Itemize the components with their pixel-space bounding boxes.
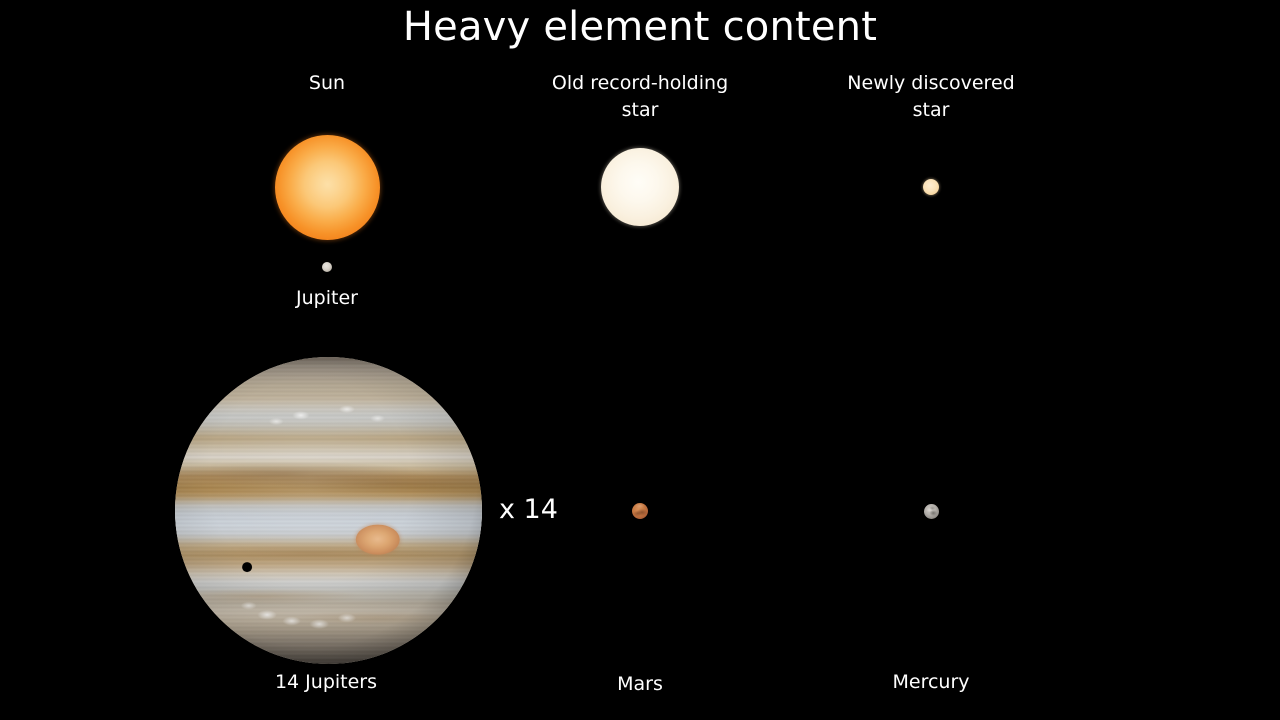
column-label-new-star-line1: Newly discovered bbox=[811, 70, 1051, 97]
column-label-old-star-line1: Old record-holding bbox=[520, 70, 760, 97]
sun-disc bbox=[275, 135, 380, 240]
mars-label: Mars bbox=[540, 673, 740, 695]
column-label-old-star: Old record-holding star bbox=[520, 70, 760, 124]
jupiter-large-label: 14 Jupiters bbox=[226, 671, 426, 693]
jupiter-multiplier-label: x 14 bbox=[499, 494, 558, 525]
newly-discovered-star-disc bbox=[923, 179, 939, 195]
jupiter-small-label: Jupiter bbox=[227, 287, 427, 309]
column-label-new-star: Newly discovered star bbox=[811, 70, 1051, 124]
infographic-canvas: Heavy element content Sun Old record-hol… bbox=[0, 0, 1280, 720]
column-label-sun-text: Sun bbox=[309, 72, 345, 94]
column-label-new-star-line2: star bbox=[811, 97, 1051, 124]
jupiter-limb-shading bbox=[175, 357, 482, 664]
page-title: Heavy element content bbox=[0, 4, 1280, 50]
mercury-surface-markings bbox=[924, 504, 939, 519]
mercury-disc bbox=[924, 504, 939, 519]
mars-surface-markings bbox=[632, 503, 648, 519]
mercury-label: Mercury bbox=[831, 671, 1031, 693]
mars-disc bbox=[632, 503, 648, 519]
jupiter-small-disc bbox=[322, 262, 332, 272]
old-record-star-disc bbox=[601, 148, 679, 226]
jupiter-large-disc bbox=[175, 357, 482, 664]
column-label-old-star-line2: star bbox=[520, 97, 760, 124]
column-label-sun: Sun bbox=[227, 70, 427, 97]
